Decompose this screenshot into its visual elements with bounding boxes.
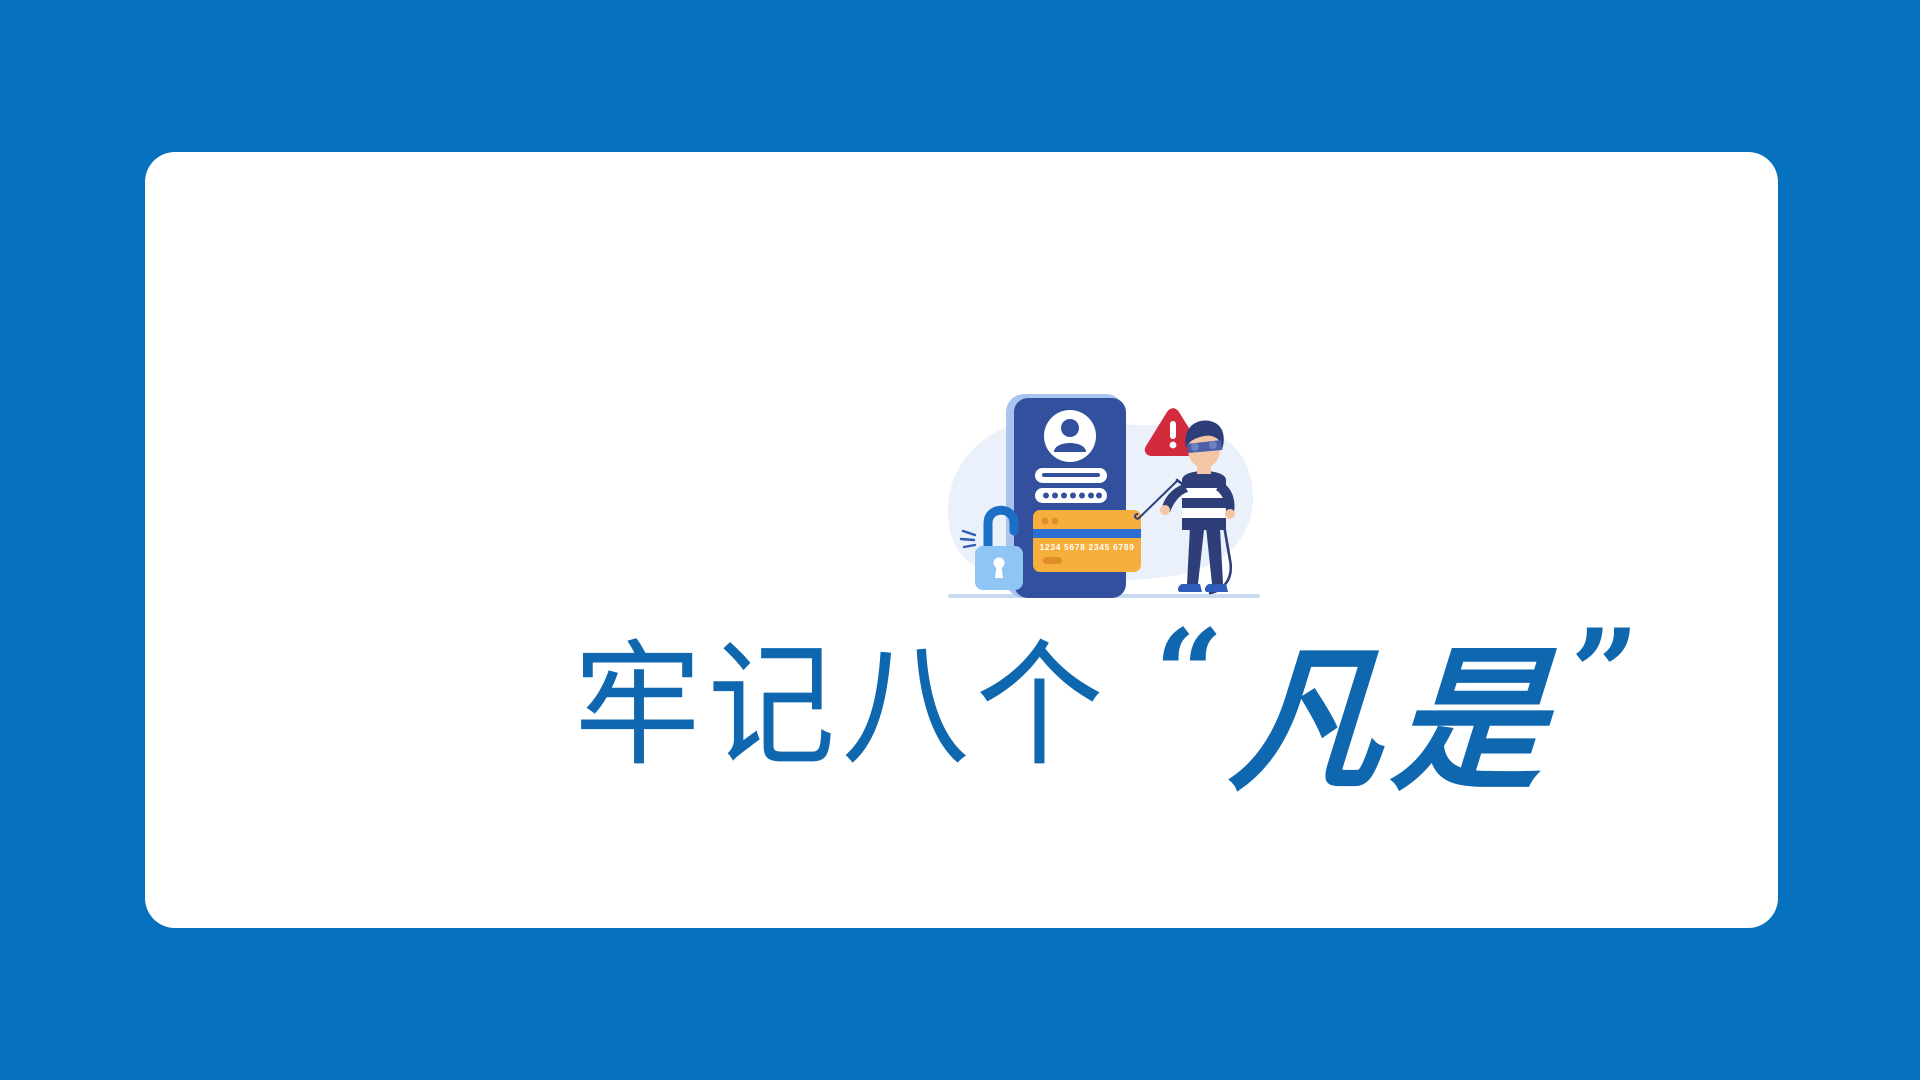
thief-shoe-right — [1205, 584, 1228, 592]
thief-hand-right — [1225, 509, 1235, 519]
slide-card: 1234 5678 2345 6789 — [145, 152, 1778, 928]
thief-hand-left — [1160, 505, 1170, 515]
quote-open-mark: “ — [1154, 614, 1223, 734]
thief-shoe-left — [1178, 584, 1202, 592]
username-field-line — [1042, 473, 1100, 477]
phishing-scam-illustration: 1234 5678 2345 6789 — [934, 388, 1274, 623]
credit-card-chip — [1043, 557, 1062, 564]
credit-card-stripe — [1033, 529, 1141, 538]
headline-plain-text: 牢记八个 — [574, 639, 1110, 775]
quote-close-mark: ” — [1570, 614, 1639, 734]
credit-card-number: 1234 5678 2345 6789 — [1039, 542, 1134, 552]
headline-brush-text: 凡是 — [1226, 643, 1561, 799]
page-title: 牢记八个 “ 凡是 ” — [290, 632, 1920, 782]
avatar-icon — [1044, 410, 1096, 462]
credit-card: 1234 5678 2345 6789 — [1033, 510, 1141, 572]
thief-shirt — [1182, 471, 1226, 530]
